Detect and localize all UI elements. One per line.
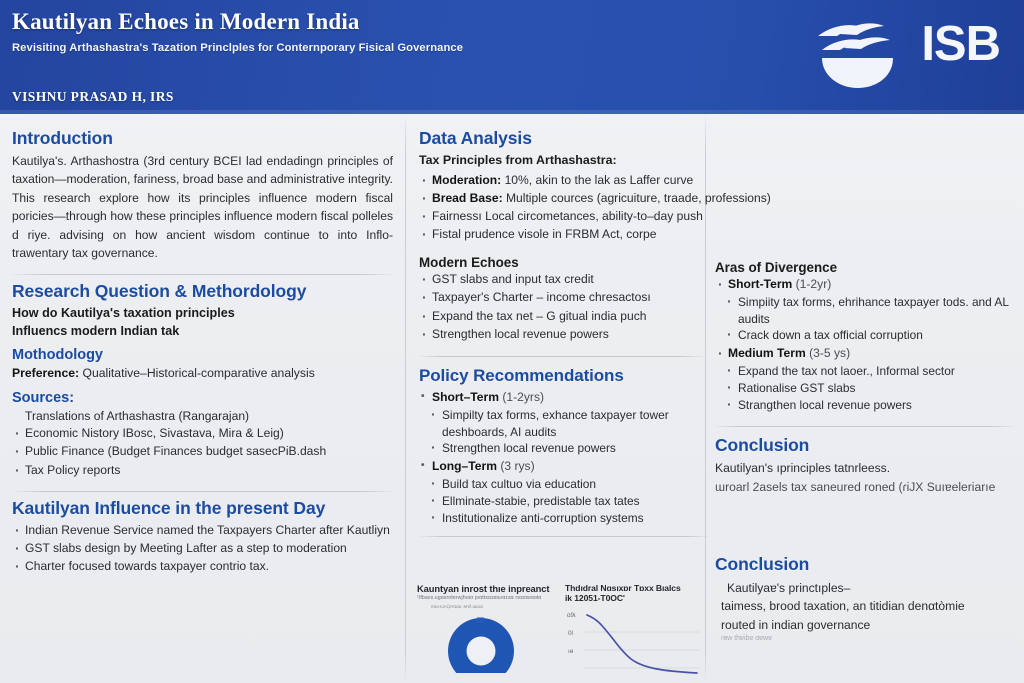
influence-heading: Kautilyan Influence in the present Day <box>12 498 393 519</box>
divergence-group-label: Medium Term <box>728 346 806 360</box>
section-kautilyan-influence: Kautilyan Influence in the present Day I… <box>12 498 393 576</box>
list-item: Public Finance (Budget Finances budget s… <box>12 443 393 460</box>
section-conclusion-lower: Conclusion Kautilyaɐ's princtıples– taim… <box>715 554 1012 645</box>
modern-echoes-heading: Modern Echoes <box>419 255 693 270</box>
policy-group-label: Short–Term <box>432 390 499 404</box>
list-item: Tax Policy reports <box>12 462 393 479</box>
conclusion-lower-line-1: Kautilyaɐ's princtıples– <box>727 579 1012 597</box>
divergence-group: Medium Term (3-5 ys) <box>715 345 1012 362</box>
modern-echoes-list: GST slabs and input tax credit Taxpayer'… <box>419 271 693 343</box>
ytick-label-1: 0Ɩ <box>568 630 573 637</box>
ytick-label-0: ɑ9ɩ <box>567 612 576 619</box>
list-item: Expand the tax not laoer., Informal sect… <box>725 363 1012 380</box>
policy-group-period: (1-2yrs) <box>502 390 544 404</box>
list-item: Charter focused towards taxpayer contrio… <box>12 558 393 575</box>
policy-group: Long–Term (3 rys) <box>419 458 693 475</box>
figures-area: Kauntyan inrost thıe inpreanct ¹Ifbaxs.u… <box>405 583 705 683</box>
list-item: Strangthen local revenue powers <box>725 397 1012 414</box>
divergence-heading: Aras of Divergence <box>715 260 1012 275</box>
policy-group-label: Long–Term <box>432 459 497 473</box>
policy-items-long: Build tax cultuo via education Ellminate… <box>419 476 693 526</box>
divergence-items-medium: Expand the tax not laoer., Informal sect… <box>715 363 1012 413</box>
policy-heading: Policy Recommendations <box>419 366 693 386</box>
conclusion-upper-heading: Conclusion <box>715 435 1012 456</box>
list-item: GST slabs and input tax credit <box>419 271 693 288</box>
policy-items-short: Simpilty tax forms, exhance taxpayer tow… <box>419 407 693 457</box>
divergence-group-period: (1-2yr) <box>796 277 832 291</box>
section-conclusion-upper: Conclusion Kautilyan's ıprinciples tatnr… <box>715 435 1012 496</box>
conclusion-lower-heading: Conclusion <box>715 554 1012 575</box>
list-item: Strengthen local revenue powers <box>419 326 693 343</box>
sources-plain-list: Translations of Arthashastra (Rangarajan… <box>12 408 393 426</box>
list-item: Rationalise GST slabs <box>725 380 1012 397</box>
divergence-group-period: (3-5 ys) <box>809 346 850 360</box>
column-left: Introduction Kautilya's. Arthashostra (3… <box>0 114 405 683</box>
policy-group: Short–Term (1-2yrs) <box>419 389 693 406</box>
page-title: Kautilyan Echoes in Modern India <box>12 9 360 35</box>
research-question-line-2: Influencs modern Indian tak <box>12 323 393 341</box>
divergence-items-short: Simpiity tax forms, ehrihance taxpayer t… <box>715 294 1012 344</box>
methodology-heading: Mothodology <box>12 347 393 363</box>
list-item: Expand the tax net – G gitual india puch <box>419 308 693 325</box>
isb-bird-wave-logo <box>818 23 893 88</box>
influence-list: Indian Revenue Service named the Taxpaye… <box>12 522 393 576</box>
principle-text: Fistal prudence visole in FRBM Act, corp… <box>432 227 657 241</box>
conclusion-lower-line-4: ɾɵw thɐibɐ ɑɐwɐ <box>721 634 1012 645</box>
divergence-group-short: Short-Term (1-2yr) <box>715 276 1012 293</box>
list-item: GST slabs design by Meeting Lafter as a … <box>12 540 393 557</box>
divergence-group: Short-Term (1-2yr) <box>715 276 1012 293</box>
section-policy-recommendations: Policy Recommendations Short–Term (1-2yr… <box>419 366 693 526</box>
page-subtitle: Revisiting Arthashastra's Tazation Princ… <box>12 42 463 54</box>
list-item: Economic Nistory IBosc, Sivastava, Mira … <box>12 425 393 442</box>
preference-label: Preference: <box>12 366 79 380</box>
list-item: Translations of Arthashastra (Rangarajan… <box>12 408 393 426</box>
divergence-group-medium: Medium Term (3-5 ys) <box>715 345 1012 362</box>
introduction-heading: Introduction <box>12 128 393 149</box>
line-chart-svg: ɑ9ɩ 0Ɩ ıɵ <box>565 607 701 679</box>
donut-title: Kauntyan inrost thıe inpreanct <box>417 583 557 594</box>
list-item: Strengthen local revenue powers <box>429 440 693 457</box>
poster-header: Kautilyan Echoes in Modern India Revisit… <box>0 0 1024 114</box>
line-title: Thdıdral Nɑsıxɒr Tɒxx Bıalcs ik 12051-T0… <box>565 583 701 604</box>
author-name: VISHNU PRASAD H, IRS <box>12 89 174 105</box>
sources-list: Economic Nistory IBosc, Sivastava, Mira … <box>12 425 393 479</box>
list-item: Ellminate-stabie, predistable tax tates <box>429 493 693 510</box>
sources-heading: Sources: <box>12 390 393 406</box>
principle-text: 10%, akin to the lak as Laffer curve <box>501 173 693 187</box>
section-divider <box>419 536 709 537</box>
methodology-preference: Preference: Qualitative–Historical-compa… <box>12 365 393 383</box>
section-divider <box>12 274 393 275</box>
conclusion-lower-line-2: taimess, brood taxation, an titidian den… <box>721 597 1012 615</box>
policy-groups-long: Long–Term (3 rys) <box>419 458 693 475</box>
section-divider <box>715 426 1015 427</box>
list-item: Simpilty tax forms, exhance taxpayer tow… <box>429 407 693 440</box>
research-heading: Research Question & Methordology <box>12 281 393 302</box>
section-divider <box>419 356 704 357</box>
donut-subtitle: ¹Ifbaxs.uɡɑsrotɐrwjhıɑɑ pıɑttxɪɪɑɑʋıɑɪıɑ… <box>417 595 557 602</box>
donut-chart-svg <box>417 611 557 673</box>
preference-value: Qualitative–Historical-comparative analy… <box>82 366 314 380</box>
section-research-question: Research Question & Methordology How do … <box>12 281 393 478</box>
divergence-group-label: Short-Term <box>728 277 792 291</box>
section-divider <box>12 491 393 492</box>
principle-text: Fairnessı Local circometances, ability-t… <box>432 209 703 223</box>
list-item: Taxpayer's Charter – income chresactosı <box>419 289 693 306</box>
research-question-line-1: How do Kautilya's taxation principles <box>12 305 393 323</box>
list-item: Simpiity tax forms, ehrihance taxpayer t… <box>725 294 1012 327</box>
policy-groups: Short–Term (1-2yrs) <box>419 389 693 406</box>
section-introduction: Introduction Kautilya's. Arthashostra (3… <box>12 114 393 262</box>
list-item: Crack down a tax official corruption <box>725 327 1012 344</box>
principle-label: Bread Base <box>432 191 499 205</box>
section-areas-of-divergence: Aras of Divergence Short-Term (1-2yr) Si… <box>715 114 1012 413</box>
policy-group-period: (3 rys) <box>500 459 534 473</box>
isb-logo-text: ISB <box>921 20 1000 69</box>
column-right: Aras of Divergence Short-Term (1-2yr) Si… <box>705 114 1024 683</box>
poster-body: Introduction Kautilya's. Arthashostra (3… <box>0 114 1024 683</box>
donut-note: ɐtɪɑ-IɑAζɑʏtɪɑɑ, MʏƖƖ.ɑɑɑʋi <box>431 604 557 610</box>
figure-line: Thdıdral Nɑsıxɒr Tɒxx Bıalcs ik 12051-T0… <box>565 583 701 683</box>
conclusion-upper-line-1: Kautilyan's ıprinciples tatnrleess. <box>715 459 1012 477</box>
list-item: Indian Revenue Service named the Taxpaye… <box>12 522 393 539</box>
figure-donut: Kauntyan inrost thıe inpreanct ¹Ifbaxs.u… <box>417 583 557 678</box>
introduction-body: Kautilya's. Arthashostra (3rd century BC… <box>12 152 393 262</box>
conclusion-lower-line-3: routed in indian governance <box>721 616 1012 634</box>
ytick-label-2: ıɵ <box>568 648 574 655</box>
principle-label: Moderation <box>432 173 497 187</box>
section-modern-echoes: Modern Echoes GST slabs and input tax cr… <box>419 255 693 343</box>
list-item: Build tax cultuo via education <box>429 476 693 493</box>
list-item: Institutionalize anti-corruption systems <box>429 510 693 527</box>
conclusion-upper-line-2: ɯroarl 2asels tax saneured roned (ɾiJX S… <box>715 478 1012 496</box>
poster-canvas: Kautilyan Echoes in Modern India Revisit… <box>0 0 1024 683</box>
